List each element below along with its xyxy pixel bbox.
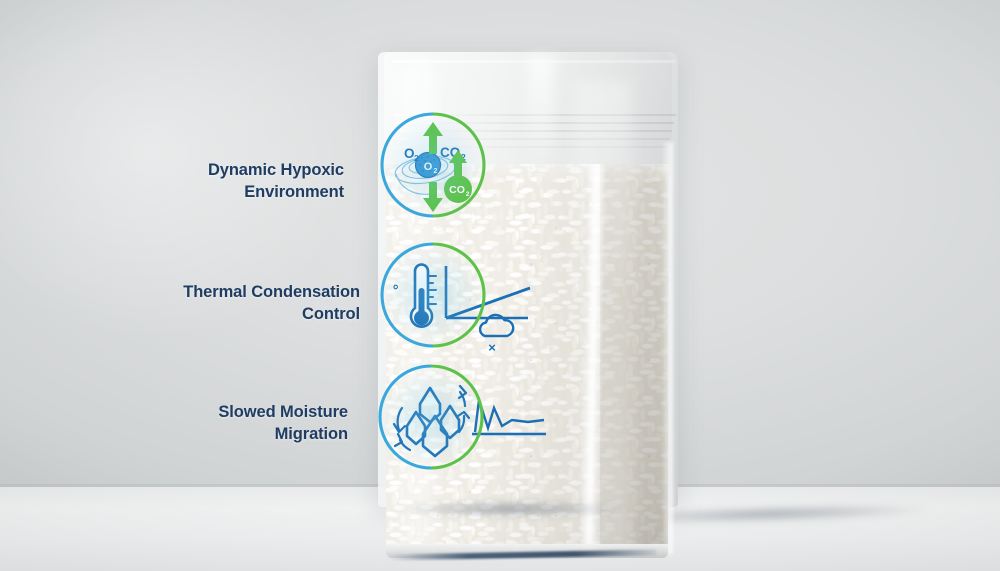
- thermometer-icon: [411, 265, 436, 327]
- feature-icon-dynamic-hypoxic-environment: O 2 O 2 CO 2 CO 2: [378, 110, 488, 220]
- svg-text:CO: CO: [449, 184, 465, 196]
- degree-symbol: °: [391, 284, 408, 290]
- ring-arc-green: [433, 244, 484, 346]
- cross-mark: ×: [488, 340, 496, 355]
- arrow-down-icon: [423, 182, 443, 212]
- rising-line-chart: [446, 266, 530, 318]
- scene-canvas: Dynamic Hypoxic Environment Thermal Cond…: [0, 0, 1000, 571]
- co2-bubble: CO 2: [444, 175, 472, 203]
- svg-text:2: 2: [434, 168, 438, 175]
- pouch-right-edge-highlight: [661, 142, 673, 554]
- svg-text:O: O: [424, 161, 433, 173]
- feature-icon-thermal-condensation-control: ° ×: [378, 240, 488, 350]
- o2-label: O: [404, 146, 415, 161]
- film-highlight-right: [574, 82, 632, 552]
- o2-label-subscript: 2: [414, 153, 419, 163]
- feature-label-dynamic-hypoxic-environment: Dynamic Hypoxic Environment: [60, 160, 344, 204]
- svg-text:2: 2: [466, 191, 470, 198]
- feature-icon-slowed-moisture-migration: [376, 362, 486, 472]
- water-droplets-icon: [407, 388, 459, 456]
- film-highlight-top: [528, 56, 554, 176]
- feature-label-thermal-condensation-control: Thermal Condensation Control: [60, 282, 360, 326]
- pouch-contact-shadow: [360, 500, 660, 518]
- o2-molecule-sphere: O 2: [416, 153, 441, 178]
- feature-label-slowed-moisture-migration: Slowed Moisture Migration: [60, 402, 348, 446]
